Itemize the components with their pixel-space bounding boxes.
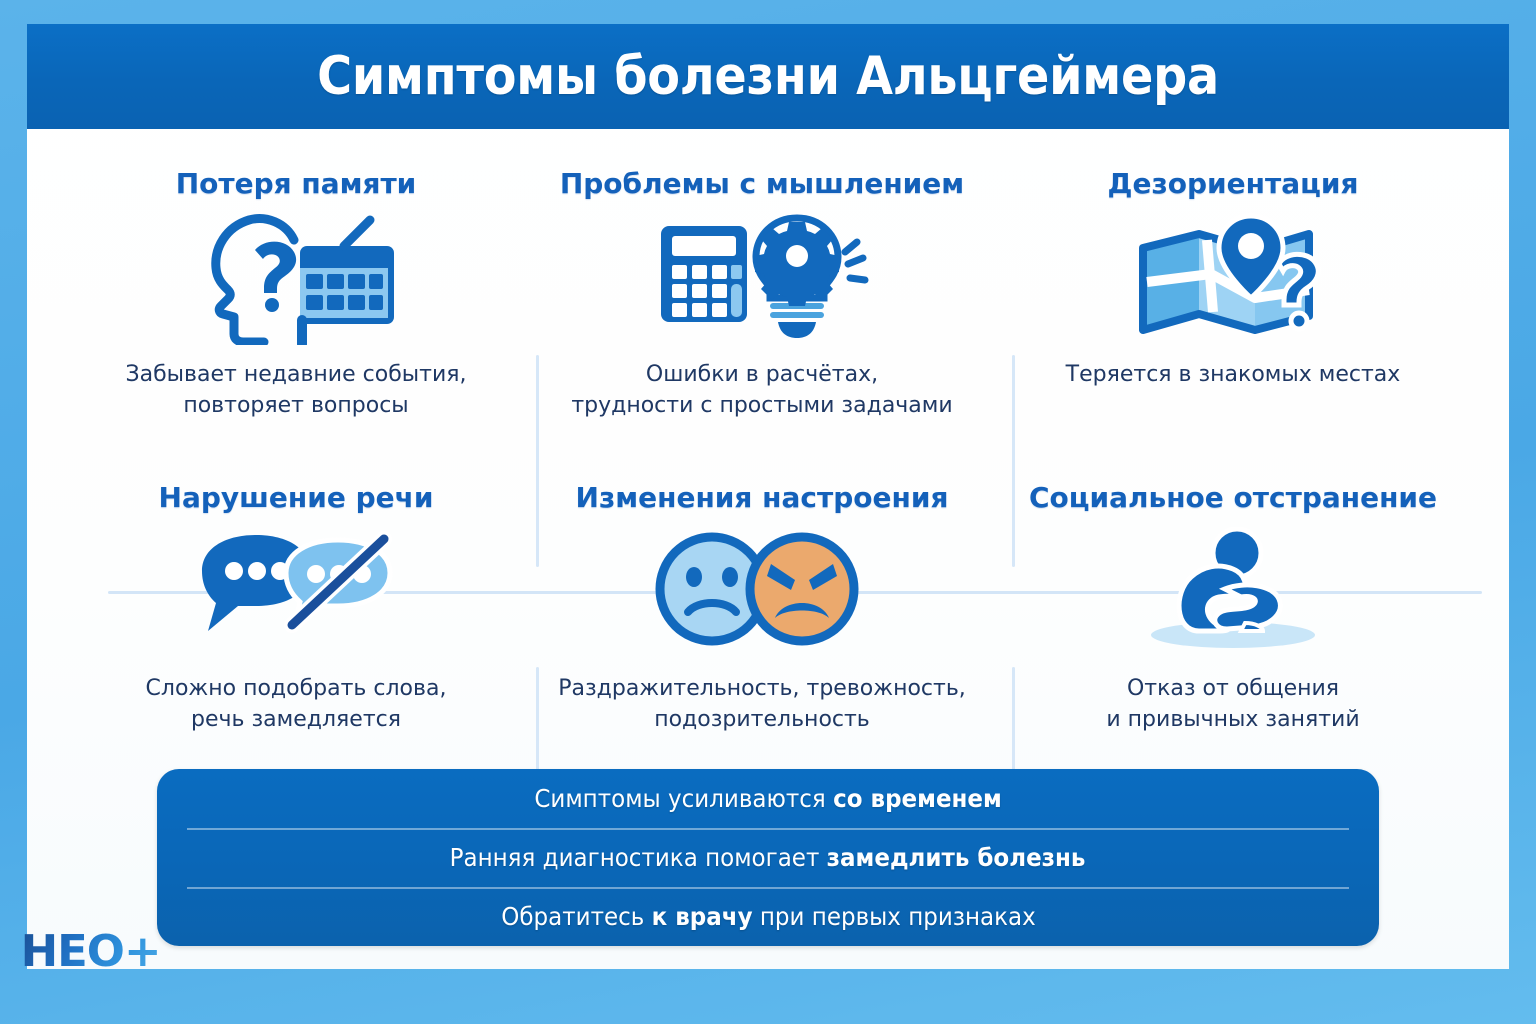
key-point-emphasis: к врачу (651, 902, 752, 931)
infographic-page: Симптомы болезни Альцгеймера Потеря памя… (0, 0, 1536, 1024)
symptom-title: Потеря памяти (176, 167, 417, 201)
symptom-description: Ошибки в расчётах,трудности с простыми з… (571, 359, 952, 421)
speech-bubbles-slash-icon (194, 521, 399, 657)
key-point-text: Ранняя диагностика помогает замедлить бо… (450, 843, 1086, 872)
key-point-text: Симптомы усиливаются со временем (534, 784, 1002, 813)
key-point-tail: при первых признаках (752, 902, 1035, 931)
symptom-title: Социальное отстранение (1029, 481, 1437, 515)
symptom-description: Сложно подобрать слова,речь замедляется (146, 673, 447, 735)
key-point-emphasis: замедлить болезнь (827, 843, 1086, 872)
key-point-lead: Ранняя диагностика помогает (450, 843, 827, 872)
symptom-description: Раздражительность, тревожность,подозрите… (558, 673, 966, 735)
brand-logo: НЕО+ (22, 923, 222, 979)
symptom-card-speech-impairment: Нарушение речи Сложно подобрать слова,ре… (81, 481, 511, 735)
symptom-title: Нарушение речи (159, 481, 434, 515)
symptom-card-thinking-problems: Проблемы с мышлением (537, 167, 987, 421)
key-point-emphasis: со временем (833, 784, 1002, 813)
key-point-row: Обратитесь к врачу при первых признаках (157, 887, 1379, 946)
key-point-text: Обратитесь к врачу при первых признаках (501, 902, 1036, 931)
symptom-card-memory-loss: Потеря памяти (81, 167, 511, 421)
symptoms-grid: Потеря памяти (27, 133, 1509, 753)
key-point-row: Симптомы усиливаются со временем (157, 769, 1379, 828)
head-question-calendar-icon (194, 207, 399, 347)
symptom-title: Проблемы с мышлением (560, 167, 964, 201)
key-point-lead: Симптомы усиливаются (534, 784, 833, 813)
key-points-panel: Симптомы усиливаются со временем Ранняя … (157, 769, 1379, 946)
symptom-description: Отказ от общенияи привычных занятий (1106, 673, 1359, 735)
map-pin-question-icon (1133, 207, 1333, 347)
brand-logo-text: НЕО+ (21, 926, 161, 977)
key-point-row: Ранняя диагностика помогает замедлить бо… (157, 828, 1379, 887)
key-point-lead: Обратитесь (501, 902, 651, 931)
page-title: Симптомы болезни Альцгеймера (317, 46, 1219, 107)
person-hugging-knees-icon (1133, 521, 1333, 657)
symptom-card-disorientation: Дезориентация (1013, 167, 1453, 390)
symptom-description: Теряется в знакомых местах (1066, 359, 1401, 390)
symptom-description: Забывает недавние события,повторяет вопр… (126, 359, 467, 421)
symptom-card-mood-changes: Изменения настроения Раздражительно (537, 481, 987, 735)
sad-angry-faces-icon (655, 521, 870, 657)
symptom-card-social-withdrawal: Социальное отстранение Отказ от общенияи… (1013, 481, 1453, 735)
calculator-lightbulb-gear-icon (655, 207, 870, 347)
symptom-title: Изменения настроения (576, 481, 949, 515)
header-bar: Симптомы болезни Альцгеймера (27, 24, 1509, 129)
symptom-title: Дезориентация (1108, 167, 1359, 201)
